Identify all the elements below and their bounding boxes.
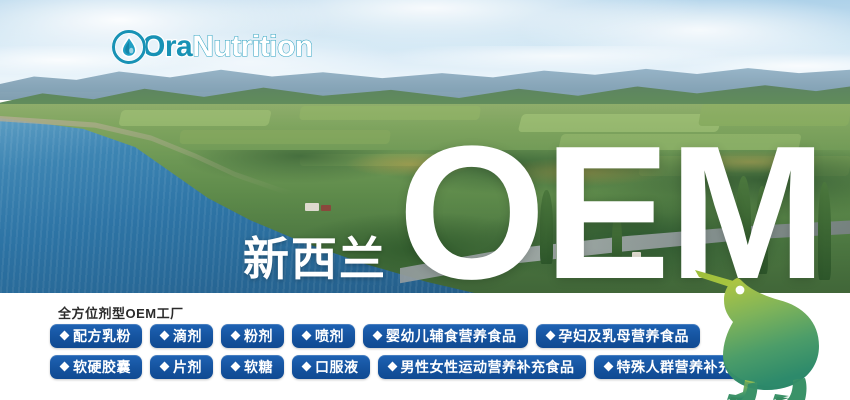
category-pill-label: 配方乳粉 [73, 326, 131, 346]
lakeside-building [305, 203, 319, 211]
brand-name-part2: Nutrition [192, 32, 312, 62]
poplar-tree [556, 200, 567, 266]
diamond-bullet-icon [373, 331, 383, 341]
diamond-bullet-icon [60, 362, 70, 372]
category-pill-label: 软糖 [244, 357, 273, 377]
diamond-bullet-icon [545, 331, 555, 341]
poplar-tree [540, 190, 553, 264]
category-pill-label: 软硬胶囊 [73, 357, 131, 377]
category-pill[interactable]: 片剂 [150, 355, 213, 379]
category-pill[interactable]: 配方乳粉 [50, 324, 142, 348]
diamond-bullet-icon [160, 362, 170, 372]
category-pill[interactable]: 口服液 [292, 355, 370, 379]
category-pill-label: 滴剂 [173, 326, 202, 346]
category-pill-label: 婴幼儿辅食营养食品 [386, 326, 517, 346]
lakeside-building [321, 205, 331, 211]
category-pill-label: 喷剂 [315, 326, 344, 346]
oem-promo-banner: OraNutrition 新西兰 OEM 全方位剂型OEM工厂 配方乳粉 滴剂 … [0, 0, 850, 400]
autumn-trees [330, 150, 850, 220]
water-droplet-icon [112, 30, 146, 64]
diamond-bullet-icon [603, 362, 613, 372]
lakeside-building [632, 252, 641, 258]
category-pill[interactable]: 软糖 [221, 355, 284, 379]
diamond-bullet-icon [302, 362, 312, 372]
category-pill[interactable]: 粉剂 [221, 324, 284, 348]
brand-wordmark: OraNutrition [142, 32, 313, 62]
diamond-bullet-icon [231, 331, 241, 341]
category-pill[interactable]: 男性女性运动营养补充食品 [378, 355, 586, 379]
category-pill-label: 孕妇及乳母营养食品 [559, 326, 690, 346]
brand-name-part1: Ora [142, 32, 192, 62]
poplar-tree [612, 212, 622, 270]
lakeside-building [648, 258, 656, 263]
category-pill[interactable]: 软硬胶囊 [50, 355, 142, 379]
diamond-bullet-icon [160, 331, 170, 341]
category-pill-label: 片剂 [173, 357, 202, 377]
category-pill[interactable]: 孕妇及乳母营养食品 [536, 324, 701, 348]
diamond-bullet-icon [302, 331, 312, 341]
diamond-bullet-icon [60, 331, 70, 341]
category-pill-label: 粉剂 [244, 326, 273, 346]
category-pill-label: 口服液 [315, 357, 359, 377]
brand-logo[interactable]: OraNutrition [112, 26, 313, 68]
category-pill[interactable]: 婴幼儿辅食营养食品 [363, 324, 528, 348]
panel-title: 全方位剂型OEM工厂 [58, 303, 184, 322]
diamond-bullet-icon [387, 362, 397, 372]
diamond-bullet-icon [231, 362, 241, 372]
category-pill[interactable]: 滴剂 [150, 324, 213, 348]
category-pill[interactable]: 喷剂 [292, 324, 355, 348]
kiwi-bird-icon [693, 250, 841, 400]
category-pill-label: 男性女性运动营养补充食品 [401, 357, 575, 377]
